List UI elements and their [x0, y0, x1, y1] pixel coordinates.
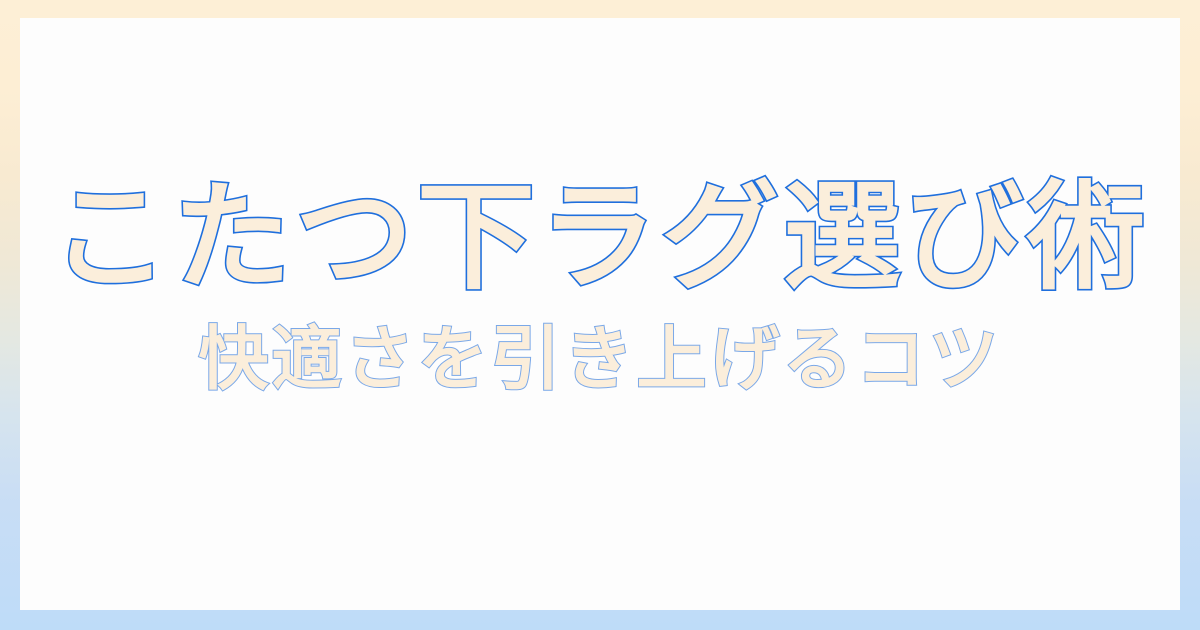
banner-root: こたつ下ラグ選び術 快適さを引き上げるコツ	[0, 0, 1200, 630]
text-stack: こたつ下ラグ選び術 快適さを引き上げるコツ	[20, 18, 1180, 610]
white-card-panel: こたつ下ラグ選び術 快適さを引き上げるコツ	[20, 18, 1180, 610]
page-title: こたつ下ラグ選び術	[51, 174, 1149, 301]
page-subtitle: 快適さを引き上げるコツ	[199, 321, 1002, 398]
